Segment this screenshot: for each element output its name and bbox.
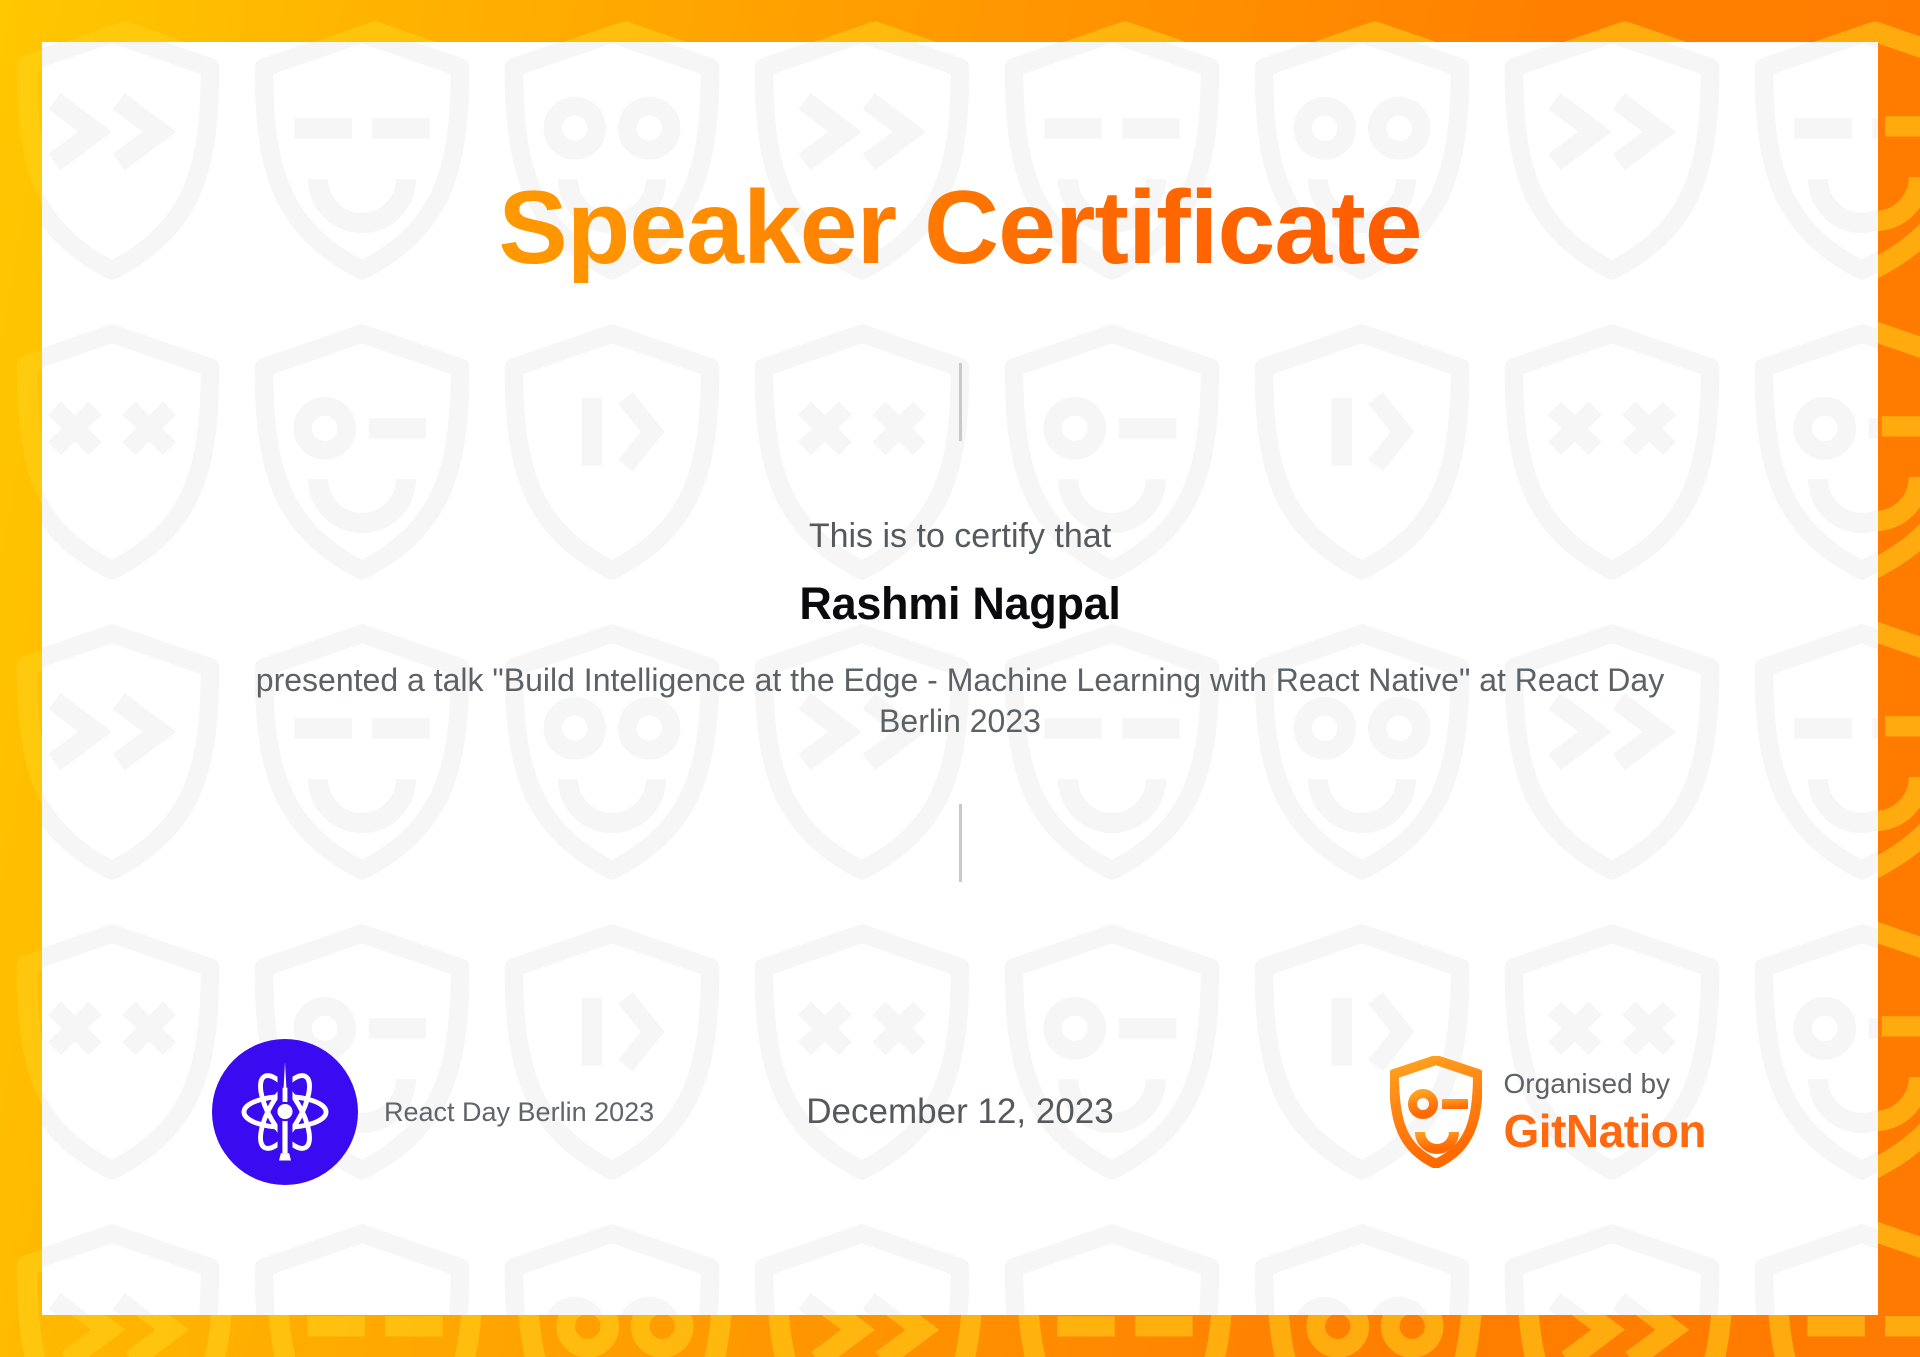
organiser-label: Organised by bbox=[1504, 1070, 1706, 1098]
organiser-block: Organised by GitNation bbox=[1390, 1056, 1706, 1168]
organiser-text: Organised by GitNation bbox=[1504, 1070, 1706, 1154]
divider-bottom bbox=[959, 804, 962, 882]
certificate-footer: React Day Berlin 2023 December 12, 2023 bbox=[42, 1027, 1878, 1197]
gitnation-shield-face-icon bbox=[1390, 1056, 1482, 1168]
organiser-name: GitNation bbox=[1504, 1108, 1706, 1154]
certificate-card: Speaker Certificate This is to certify t… bbox=[42, 42, 1878, 1315]
recipient-name: Rashmi Nagpal bbox=[799, 578, 1120, 630]
divider-top bbox=[959, 363, 962, 441]
talk-description: presented a talk "Build Intelligence at … bbox=[250, 660, 1670, 742]
certificate: Speaker Certificate This is to certify t… bbox=[0, 0, 1920, 1357]
page-title: Speaker Certificate bbox=[498, 174, 1421, 283]
certificate-content: Speaker Certificate This is to certify t… bbox=[42, 42, 1878, 1315]
certify-line: This is to certify that bbox=[809, 517, 1111, 556]
